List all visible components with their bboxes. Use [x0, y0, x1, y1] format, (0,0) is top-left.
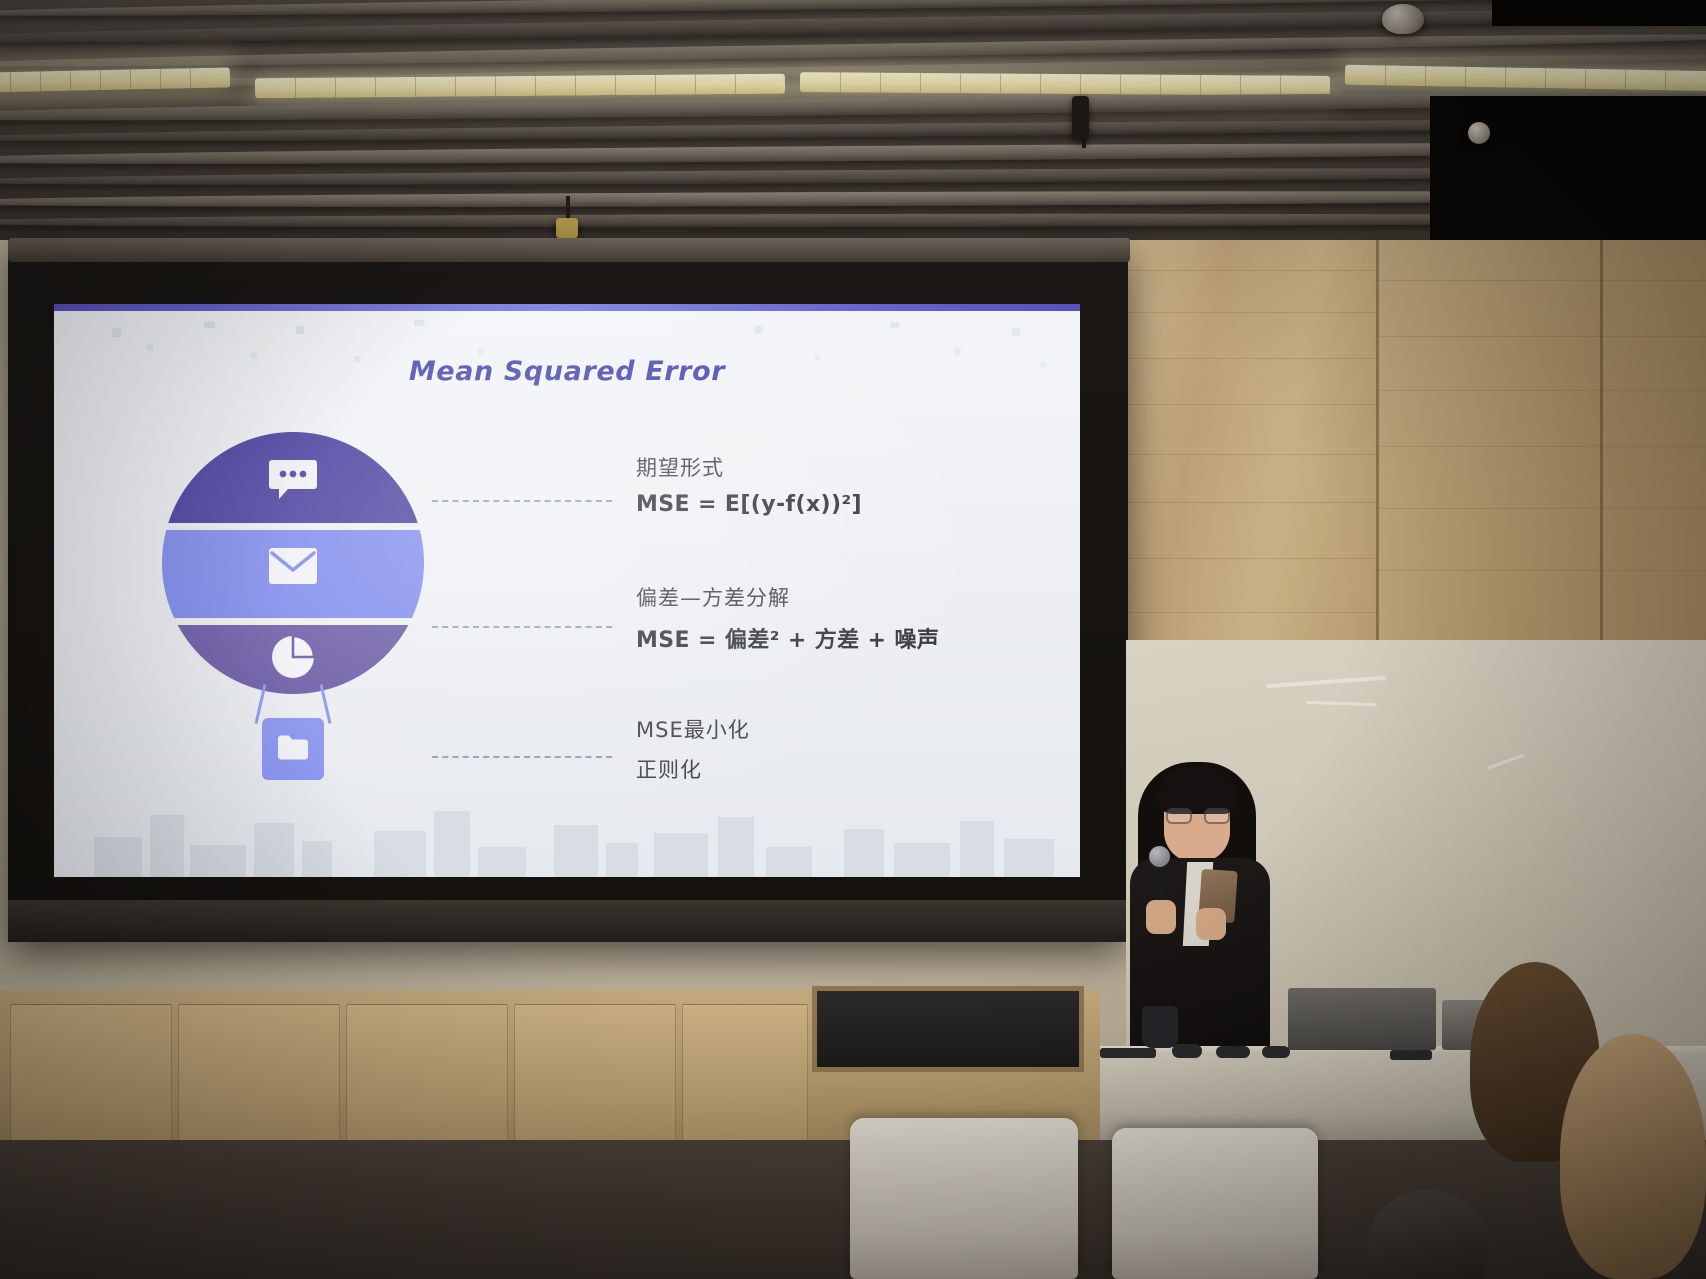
folder-icon: [277, 735, 309, 766]
connector-line-3: [432, 756, 612, 758]
audience-chair: [850, 1118, 1078, 1279]
desk-item: [1216, 1046, 1250, 1058]
block-1-heading: 期望形式: [636, 452, 862, 482]
pie-chart-icon: [270, 634, 316, 685]
ceiling: [0, 0, 1706, 248]
slide-title: Mean Squared Error: [54, 356, 1080, 387]
presenter-hand: [1196, 908, 1226, 940]
lecture-hall-photo: Mean Squared Error: [0, 0, 1706, 1279]
ceiling-sensor: [1072, 96, 1089, 140]
cabinet-door[interactable]: [10, 1004, 172, 1156]
presenter-hand: [1146, 900, 1176, 934]
slide-block-1: 期望形式 MSE = E[(y-f(x))²]: [636, 452, 862, 517]
audience-chair: [1112, 1128, 1318, 1279]
glasses-icon: [1204, 808, 1230, 824]
ceiling-speaker: [1382, 4, 1424, 34]
block-1-formula: MSE = E[(y-f(x))²]: [636, 492, 862, 517]
screen-bottom-frame: [8, 900, 1128, 942]
hot-air-balloon-graphic: [162, 432, 424, 694]
cabinet-door[interactable]: [346, 1004, 508, 1156]
block-2-formula: MSE = 偏差² + 方差 + 噪声: [636, 622, 939, 654]
microphone-head: [1149, 846, 1170, 867]
chalkboard: [812, 986, 1084, 1072]
balloon-basket: [262, 718, 324, 780]
projection-screen: Mean Squared Error: [8, 238, 1128, 938]
ceiling-light-strip: [0, 67, 230, 92]
glasses-icon: [1166, 808, 1192, 824]
audience-head: [1560, 1034, 1706, 1279]
chat-bubble-icon: [268, 458, 318, 507]
mic-stand-base: [1142, 1006, 1178, 1048]
desk-item: [1172, 1044, 1202, 1058]
desk-item: [1390, 1050, 1432, 1060]
connector-line-1: [432, 500, 612, 502]
cabinet-door[interactable]: [178, 1004, 340, 1156]
cabinet-door[interactable]: [514, 1004, 676, 1156]
av-equipment-box: [1288, 988, 1436, 1050]
block-3-formula: 正则化: [636, 754, 750, 784]
panel-seam: [1600, 240, 1603, 670]
wood-wall-panel: [1378, 240, 1706, 670]
envelope-icon: [268, 547, 318, 590]
block-2-heading: 偏差—方差分解: [636, 582, 939, 612]
ceiling-spotlight: [1468, 122, 1490, 144]
screen-surface: Mean Squared Error: [54, 304, 1080, 877]
ceiling-light-strip: [255, 74, 785, 99]
presenter-fringe: [1158, 766, 1238, 814]
desk-item: [1100, 1048, 1156, 1058]
slide-block-3: MSE最小化 正则化: [636, 714, 750, 784]
slide-block-2: 偏差—方差分解 MSE = 偏差² + 方差 + 噪声: [636, 582, 939, 654]
block-3-heading: MSE最小化: [636, 714, 750, 744]
connector-line-2: [432, 626, 612, 628]
ceiling-tag: [556, 218, 578, 238]
desk-item: [1262, 1046, 1290, 1058]
ceiling-light-strip: [1345, 65, 1706, 92]
cabinet-door[interactable]: [682, 1004, 808, 1156]
skyline-decoration: [54, 797, 1080, 877]
slide-accent-bar: [54, 304, 1080, 311]
presenter: [1100, 750, 1300, 1080]
panel-seam: [1376, 240, 1379, 670]
wood-wall-panel: [1128, 240, 1378, 670]
slide: Mean Squared Error: [54, 304, 1080, 877]
screen-top-bar: [8, 238, 1130, 262]
ceiling-light-strip: [800, 72, 1330, 96]
